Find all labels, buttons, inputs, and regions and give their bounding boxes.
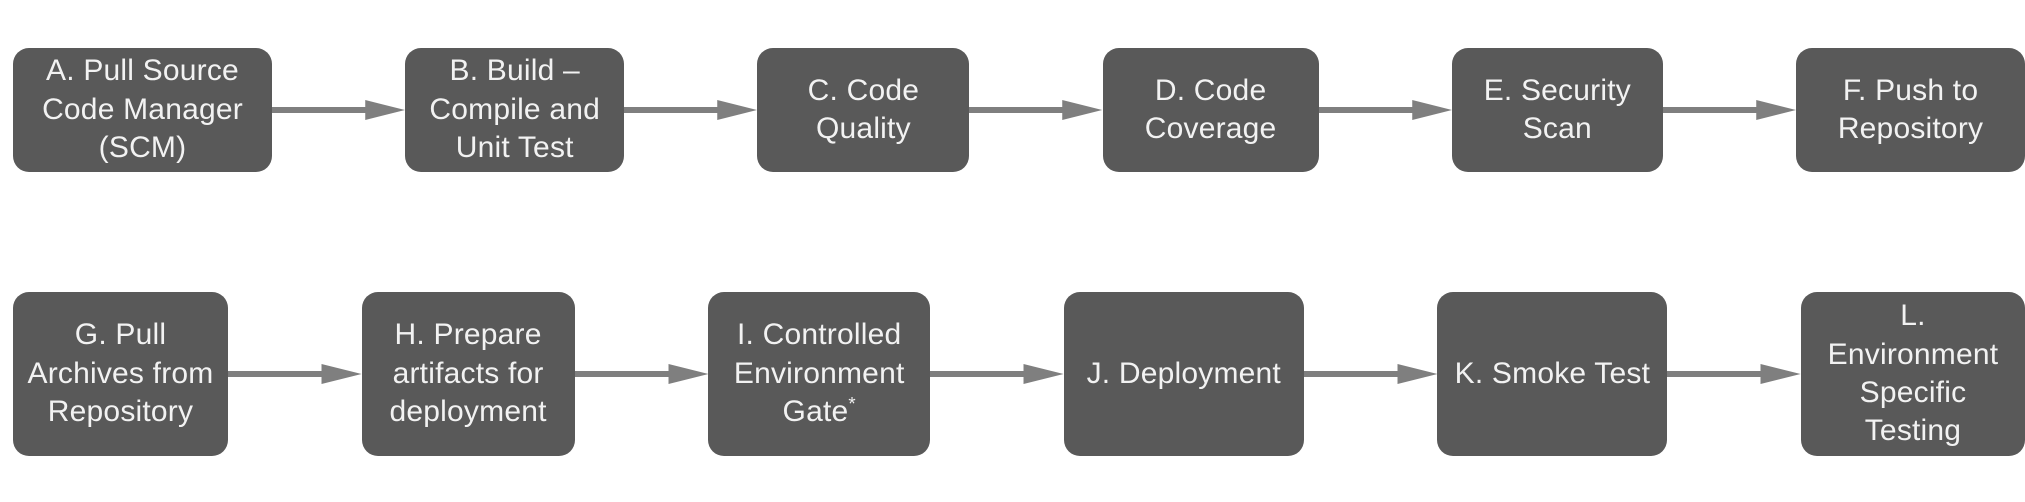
flow-row-continuous-integration: A. Pull Source Code Manager (SCM) B. Bui… [0,48,2025,172]
flow-node-d-code-coverage[interactable]: D. Code Coverage [1103,48,1319,172]
flow-node-a-pull-source-code-manager[interactable]: A. Pull Source Code Manager (SCM) [13,48,272,172]
flow-node-label: G. Pull Archives from Repository [23,316,218,431]
flow-node-label: K. Smoke Test [1447,355,1657,393]
flow-node-label: F. Push to Repository [1806,72,2015,149]
flow-arrow-a-to-b [272,97,405,123]
flow-node-label: B. Build – Compile and Unit Test [415,52,614,167]
flow-node-j-deployment[interactable]: J. Deployment [1064,292,1304,456]
flow-node-l-environment-specific-testing[interactable]: L. Environment Specific Testing [1801,292,2025,456]
pipeline-flowchart: A. Pull Source Code Manager (SCM) B. Bui… [0,0,2025,502]
flow-row-continuous-deployment: G. Pull Archives from Repository H. Prep… [0,292,2025,456]
flow-node-k-smoke-test[interactable]: K. Smoke Test [1437,292,1667,456]
flow-node-i-controlled-environment-gate[interactable]: I. Controlled Environment Gate* [708,292,930,456]
flow-arrow-k-to-l [1667,361,1801,387]
flow-node-e-security-scan[interactable]: E. Security Scan [1452,48,1663,172]
flow-node-f-push-to-repository[interactable]: F. Push to Repository [1796,48,2025,172]
flow-node-b-build-compile-and-unit-test[interactable]: B. Build – Compile and Unit Test [405,48,624,172]
flow-node-label: E. Security Scan [1462,72,1653,149]
flow-node-g-pull-archives-from-repository[interactable]: G. Pull Archives from Repository [13,292,228,456]
flow-node-label: A. Pull Source Code Manager (SCM) [23,52,262,167]
flow-node-label: J. Deployment [1074,355,1294,393]
footnote-marker-icon: * [848,393,855,414]
flow-arrow-j-to-k [1304,361,1438,387]
flow-node-label: D. Code Coverage [1113,72,1309,149]
flow-node-label: H. Prepare artifacts for deployment [372,316,565,431]
flow-arrow-d-to-e [1319,97,1452,123]
flow-arrow-c-to-d [969,97,1102,123]
flow-node-h-prepare-artifacts-for-deployment[interactable]: H. Prepare artifacts for deployment [362,292,575,456]
flow-node-label-text: I. Controlled Environment Gate [734,318,905,428]
flow-arrow-h-to-i [575,361,709,387]
flow-arrow-i-to-j [930,361,1064,387]
flow-arrow-e-to-f [1663,97,1796,123]
flow-node-label: C. Code Quality [767,72,959,149]
flow-node-label: I. Controlled Environment Gate* [718,316,920,431]
flow-arrow-g-to-h [228,361,362,387]
flow-arrow-b-to-c [624,97,757,123]
flow-node-label: L. Environment Specific Testing [1811,297,2015,451]
flow-node-c-code-quality[interactable]: C. Code Quality [757,48,969,172]
